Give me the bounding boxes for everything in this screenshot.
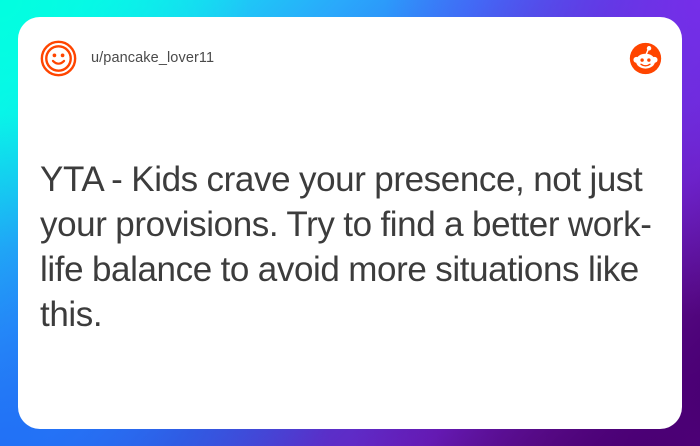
username-label: u/pancake_lover11 bbox=[91, 50, 214, 66]
card-header: u/pancake_lover11 bbox=[40, 35, 662, 81]
reddit-comment-card: u/pancake_lover11 YTA - Kids crave your … bbox=[18, 17, 682, 429]
card-body: YTA - Kids crave your presence, not just… bbox=[40, 157, 658, 337]
smiley-face-icon bbox=[40, 40, 77, 77]
comment-text: YTA - Kids crave your presence, not just… bbox=[40, 157, 658, 337]
screenshot-stage: u/pancake_lover11 YTA - Kids crave your … bbox=[0, 0, 700, 446]
reddit-snoo-icon[interactable] bbox=[629, 42, 662, 75]
